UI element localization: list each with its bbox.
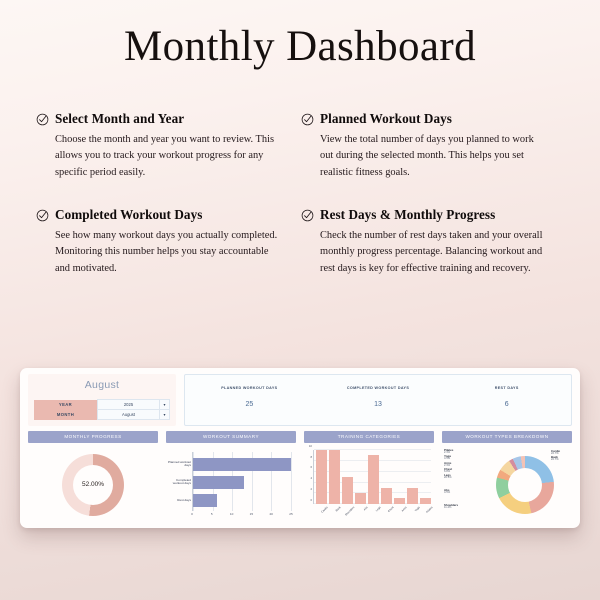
kpi-label: PLANNED WORKOUT DAYS: [185, 386, 314, 390]
hbar-plot-area: Planned workout daysCompleted workout da…: [192, 452, 291, 511]
feature-body: Check the number of rest days taken and …: [301, 228, 548, 279]
feature-item-completed-workout-days: Completed Workout Days See how many work…: [36, 208, 301, 278]
hbar-row: Completed workout days: [193, 476, 291, 489]
feature-item-select-month-and-year: Select Month and Year Choose the month a…: [36, 112, 301, 182]
month-selector-panel: August YEAR 2025 ▾ MONTH August ▾: [28, 374, 176, 426]
feature-header: Select Month and Year: [36, 112, 283, 127]
hbar-row: Planned workout days: [193, 458, 291, 471]
section-header-training-categories: TRAINING CATEGORIES: [304, 431, 434, 443]
section-header-monthly-progress: MONTHLY PROGRESS: [28, 431, 158, 443]
vbar: [316, 450, 327, 504]
feature-title: Completed Workout Days: [55, 208, 202, 223]
kpi-rest-days: REST DAYS 6: [442, 375, 571, 425]
kpi-completed-workout-days: COMPLETED WORKOUT DAYS 13: [314, 375, 443, 425]
kpi-panel: PLANNED WORKOUT DAYS 25 COMPLETED WORKOU…: [184, 374, 572, 426]
hbar-tick-label: 0: [191, 512, 193, 516]
pie-legend-right: Cardio22.7%Back22.7%: [551, 450, 571, 463]
check-circle-icon: [301, 113, 314, 126]
section-header-workout-summary: WORKOUT SUMMARY: [166, 431, 296, 443]
selector-table: YEAR 2025 ▾ MONTH August ▾: [34, 399, 170, 420]
feature-list: Select Month and Year Choose the month a…: [36, 112, 566, 304]
hbar-x-axis-ticks: 0510152025: [192, 512, 291, 520]
selector-row-month: MONTH August ▾: [34, 410, 170, 420]
vbar-plot-area: [313, 450, 431, 504]
kpi-value: 25: [185, 401, 314, 408]
progress-donut: 52.00%: [62, 454, 124, 516]
feature-header: Rest Days & Monthly Progress: [301, 208, 548, 223]
dashboard-top-row: August YEAR 2025 ▾ MONTH August ▾ PLANNE…: [28, 374, 572, 426]
chart-workout-summary: Planned workout daysCompleted workout da…: [166, 446, 296, 524]
vbar-tick-label: 2: [310, 487, 312, 491]
progress-donut-center-label: 52.00%: [73, 465, 113, 505]
hbar-row: Rest days: [193, 494, 291, 507]
feature-title: Planned Workout Days: [320, 112, 452, 127]
pie-legend-pct: 4.5%: [444, 492, 480, 495]
chart-workout-types-breakdown: Pilates2.3%Yoga4.5%Arms2.3%Chest6.8%Legs…: [442, 446, 572, 524]
pie-legend-item: Abs4.5%: [444, 489, 480, 495]
feature-body: See how many workout days you actually c…: [36, 228, 283, 279]
pie-legend-pct: 22.7%: [551, 459, 571, 462]
hbar-bar: [193, 458, 291, 471]
vbar: [368, 455, 379, 504]
section-header-row: MONTHLY PROGRESS WORKOUT SUMMARY TRAININ…: [28, 431, 572, 443]
hbar-tick-label: 15: [250, 512, 253, 516]
check-circle-icon: [301, 209, 314, 222]
feature-body: View the total number of days you planne…: [301, 132, 548, 183]
selector-row-year: YEAR 2025 ▾: [34, 400, 170, 410]
dashboard-preview-card: August YEAR 2025 ▾ MONTH August ▾ PLANNE…: [20, 368, 580, 528]
vbar: [329, 450, 340, 504]
hbar-chart: Planned workout daysCompleted workout da…: [166, 446, 296, 524]
vbar-x-axis-labels: CardioBackShouldersAbsLegsChestArmsYogaP…: [315, 504, 431, 524]
charts-row: 52.00% Planned workout daysCompleted wor…: [28, 446, 572, 524]
vbar: [342, 477, 353, 504]
kpi-label: COMPLETED WORKOUT DAYS: [314, 386, 443, 390]
pie-legend-item: Back22.7%: [551, 456, 571, 462]
vbar: [420, 498, 431, 503]
kpi-value: 13: [314, 401, 443, 408]
hbar-row-label: Completed workout days: [167, 479, 191, 486]
hbar-tick-label: 5: [211, 512, 213, 516]
kpi-planned-workout-days: PLANNED WORKOUT DAYS 25: [185, 375, 314, 425]
section-header-workout-types-breakdown: WORKOUT TYPES BREAKDOWN: [442, 431, 572, 443]
check-circle-icon: [36, 113, 49, 126]
hbar-tick-label: 20: [269, 512, 272, 516]
feature-body: Choose the month and year you want to re…: [36, 132, 283, 183]
hbar-tick-label: 10: [230, 512, 233, 516]
pie-legend-pct: 11.4%: [444, 507, 480, 510]
pie-legend-item: Legs20.5%: [444, 474, 480, 480]
kpi-value: 6: [442, 401, 571, 408]
feature-item-planned-workout-days: Planned Workout Days View the total numb…: [301, 112, 566, 182]
hbar-bar: [193, 476, 244, 489]
vbar: [355, 493, 366, 504]
donut-wrapper: 52.00%: [28, 446, 158, 524]
hbar-bar: [193, 494, 217, 507]
feature-header: Planned Workout Days: [301, 112, 548, 127]
vbar-tick-label: 8: [310, 455, 312, 459]
month-label: MONTH: [34, 410, 98, 420]
year-label: YEAR: [34, 400, 98, 410]
pie-legend-item: Shoulders11.4%: [444, 504, 480, 510]
hbar-tick-label: 25: [289, 512, 292, 516]
kpi-label: REST DAYS: [442, 386, 571, 390]
types-donut: [496, 456, 554, 514]
feature-title: Rest Days & Monthly Progress: [320, 208, 495, 223]
month-value[interactable]: August: [98, 410, 160, 420]
pie-legend-pct: 20.5%: [444, 477, 480, 480]
feature-item-rest-days-and-monthly-progress: Rest Days & Monthly Progress Check the n…: [301, 208, 566, 278]
pie-legend-left: Pilates2.3%Yoga4.5%Arms2.3%Chest6.8%Legs…: [444, 449, 480, 511]
chevron-down-icon[interactable]: ▾: [160, 400, 170, 410]
month-heading: August: [28, 374, 176, 391]
feature-header: Completed Workout Days: [36, 208, 283, 223]
year-value[interactable]: 2025: [98, 400, 160, 410]
hbar-row-label: Planned workout days: [167, 461, 191, 468]
vbar-tick-label: 0: [310, 498, 312, 502]
pie-chart: Pilates2.3%Yoga4.5%Arms2.3%Chest6.8%Legs…: [442, 446, 572, 524]
vbar-tick-label: 4: [310, 476, 312, 480]
vbar: [381, 488, 392, 504]
page-title: Monthly Dashboard: [0, 22, 600, 71]
vbar-tick-label: 6: [310, 465, 312, 469]
chart-monthly-progress: 52.00%: [28, 446, 158, 524]
vbar-chart: 0246810 CardioBackShouldersAbsLegsChestA…: [304, 446, 434, 524]
vbar-tick-label: 10: [309, 444, 312, 448]
vbar: [394, 498, 405, 503]
vbar-y-axis-ticks: 0246810: [304, 450, 313, 504]
types-donut-hole: [508, 468, 542, 502]
chevron-down-icon[interactable]: ▾: [160, 410, 170, 420]
feature-title: Select Month and Year: [55, 112, 184, 127]
hbar-row-label: Rest days: [167, 499, 191, 503]
check-circle-icon: [36, 209, 49, 222]
chart-training-categories: 0246810 CardioBackShouldersAbsLegsChestA…: [304, 446, 434, 524]
vbar: [407, 488, 418, 504]
